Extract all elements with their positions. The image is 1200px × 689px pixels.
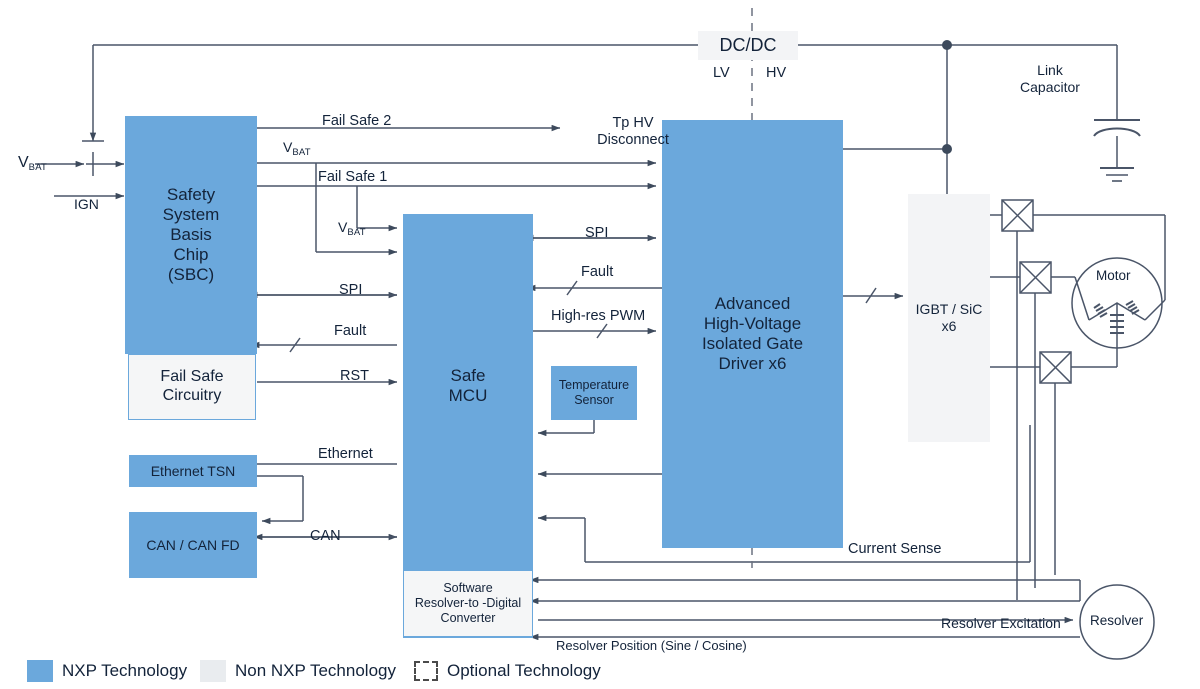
label-ethernet: Ethernet [318, 446, 373, 462]
label-fail-safe-2: Fail Safe 2 [322, 113, 391, 129]
non-nxp-swatch-icon [200, 660, 226, 682]
nxp-swatch-icon [27, 660, 53, 682]
label-high-res-pwm: High-res PWM [551, 308, 645, 324]
label-ign: IGN [74, 196, 99, 212]
legend-item-optional: Optional Technology [414, 661, 601, 681]
block-diagram-canvas: Safety System Basis Chip (SBC) Fail Safe… [0, 0, 1200, 689]
vbat-bus-text: V [283, 139, 292, 155]
igbt-line-0: IGBT / SiC [916, 301, 983, 318]
label-lv: LV [713, 65, 730, 81]
block-igbt-sic[interactable]: IGBT / SiC x6 [908, 194, 990, 442]
legend-label-nxp: NXP Technology [62, 661, 187, 681]
safe-mcu-line-0: Safe [451, 366, 486, 386]
safe-mcu-line-1: MCU [449, 386, 488, 406]
label-resolver-position: Resolver Position (Sine / Cosine) [556, 638, 747, 653]
sw-rdc-line-0: Software [443, 581, 492, 596]
legend-label-non-nxp: Non NXP Technology [235, 661, 396, 681]
tp-hv-line-1: Disconnect [573, 132, 693, 149]
block-safety-system-basis-chip[interactable]: Safety System Basis Chip (SBC) [125, 116, 257, 354]
label-vbat-mcu: VBAT [338, 219, 366, 238]
vbat-mcu-subscript: BAT [347, 227, 365, 238]
igbt-line-1: x6 [942, 318, 957, 335]
label-hv: HV [766, 65, 786, 81]
label-spi-sbc-mcu: SPI [339, 282, 362, 298]
ethernet-tsn-label: Ethernet TSN [151, 463, 236, 480]
label-fault-gatedriver-mcu: Fault [581, 264, 613, 280]
gate-driver-line-0: Advanced [715, 294, 791, 314]
block-ethernet-tsn[interactable]: Ethernet TSN [129, 455, 257, 487]
tp-hv-line-0: Tp HV [573, 115, 693, 132]
label-tp-hv-disconnect: Tp HV Disconnect [573, 115, 693, 150]
sw-rdc-line-2: Converter [441, 611, 496, 626]
link-cap-line-0: Link [1000, 62, 1100, 79]
label-fault-mcu-sbc: Fault [334, 323, 366, 339]
vbat-bus-subscript: BAT [292, 147, 310, 158]
label-can-bus: CAN [310, 528, 341, 544]
label-rst: RST [340, 368, 369, 384]
fail-safe-circuitry-line-0: Fail Safe [160, 368, 223, 387]
block-temperature-sensor[interactable]: Temperature Sensor [551, 366, 637, 420]
legend-item-nxp: NXP Technology [27, 660, 187, 682]
vbat-mcu-text: V [338, 219, 347, 235]
label-vbat-bus: VBAT [283, 139, 311, 158]
block-fail-safe-circuitry[interactable]: Fail Safe Circuitry [128, 354, 256, 420]
motor-label: Motor [1096, 268, 1131, 283]
can-label: CAN / CAN FD [146, 537, 239, 554]
gate-driver-line-1: High-Voltage [704, 314, 801, 334]
sw-rdc-line-1: Resolver-to -Digital [415, 596, 521, 611]
sbc-label-line-2: Basis [170, 225, 212, 245]
vbat-input-text: V [18, 154, 29, 171]
block-dcdc-converter[interactable]: DC/DC [698, 31, 798, 60]
label-resolver-excitation: Resolver Excitation [941, 615, 1061, 631]
vbat-input-subscript: BAT [29, 162, 47, 173]
block-advanced-high-voltage-isolated-gate-driver[interactable]: Advanced High-Voltage Isolated Gate Driv… [662, 120, 843, 548]
sbc-label-line-4: (SBC) [168, 265, 214, 285]
optional-swatch-icon [414, 661, 438, 681]
gate-driver-line-3: Driver x6 [718, 354, 786, 374]
gate-driver-line-2: Isolated Gate [702, 334, 803, 354]
legend-item-non-nxp: Non NXP Technology [200, 660, 396, 682]
label-vbat-input: VBAT [18, 154, 47, 173]
label-spi-mcu-gatedriver: SPI [585, 225, 608, 241]
temp-sensor-line-1: Sensor [574, 393, 614, 408]
block-software-resolver-to-digital-converter[interactable]: Software Resolver-to -Digital Converter [403, 570, 533, 637]
legend-label-optional: Optional Technology [447, 661, 601, 681]
link-cap-line-1: Capacitor [1000, 79, 1100, 96]
temp-sensor-line-0: Temperature [559, 378, 629, 393]
label-fail-safe-1: Fail Safe 1 [318, 169, 387, 185]
sbc-label-line-1: System [163, 205, 220, 225]
dcdc-label: DC/DC [720, 35, 777, 56]
block-can-can-fd[interactable]: CAN / CAN FD [129, 512, 257, 578]
sbc-label-line-3: Chip [174, 245, 209, 265]
fail-safe-circuitry-line-1: Circuitry [163, 387, 222, 406]
label-current-sense: Current Sense [848, 541, 942, 557]
label-link-capacitor: Link Capacitor [1000, 62, 1100, 96]
resolver-label: Resolver [1090, 613, 1143, 628]
sbc-label-line-0: Safety [167, 185, 215, 205]
